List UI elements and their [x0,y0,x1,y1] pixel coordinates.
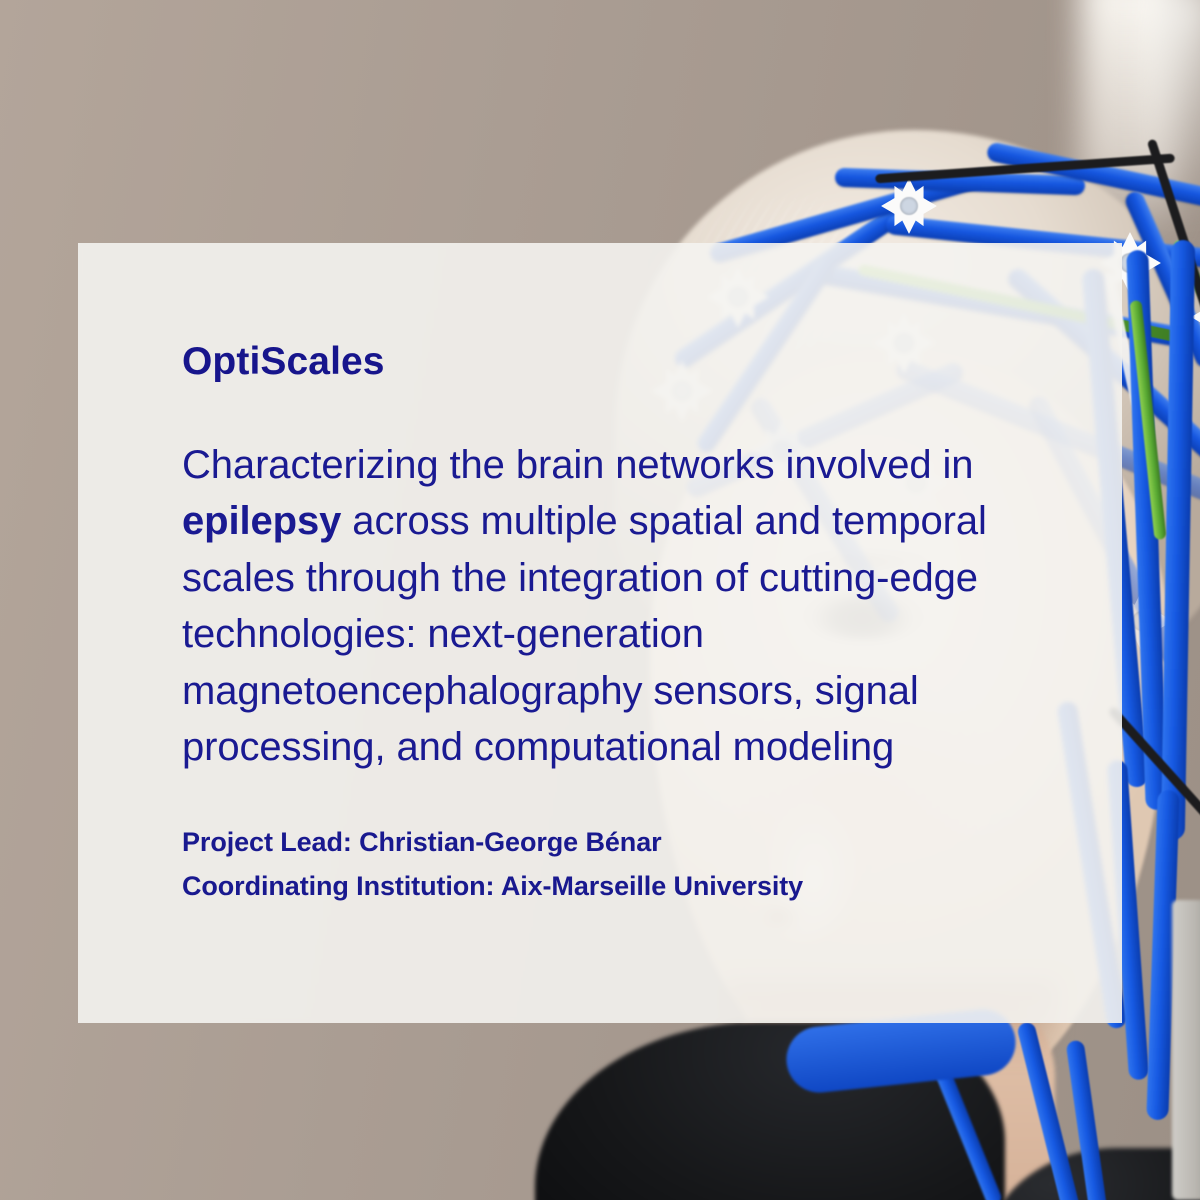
description-segment: Characterizing the brain networks involv… [182,443,973,487]
coordinating-institution-line: Coordinating Institution: Aix-Marseille … [182,865,1062,909]
card-inner: OptiScales Characterizing the brain netw… [182,243,1122,1023]
poster-canvas: OptiScales Characterizing the brain netw… [0,0,1200,1200]
project-lead-line: Project Lead: Christian-George Bénar [182,821,1062,865]
project-meta: Project Lead: Christian-George Bénar Coo… [182,821,1062,908]
project-description: Characterizing the brain networks involv… [182,437,1042,775]
page-title: OptiScales [182,341,385,384]
cable-support-post [1172,900,1200,1200]
content-card: OptiScales Characterizing the brain netw… [78,243,1122,1023]
emphasis-epilepsy: epilepsy [182,499,341,543]
